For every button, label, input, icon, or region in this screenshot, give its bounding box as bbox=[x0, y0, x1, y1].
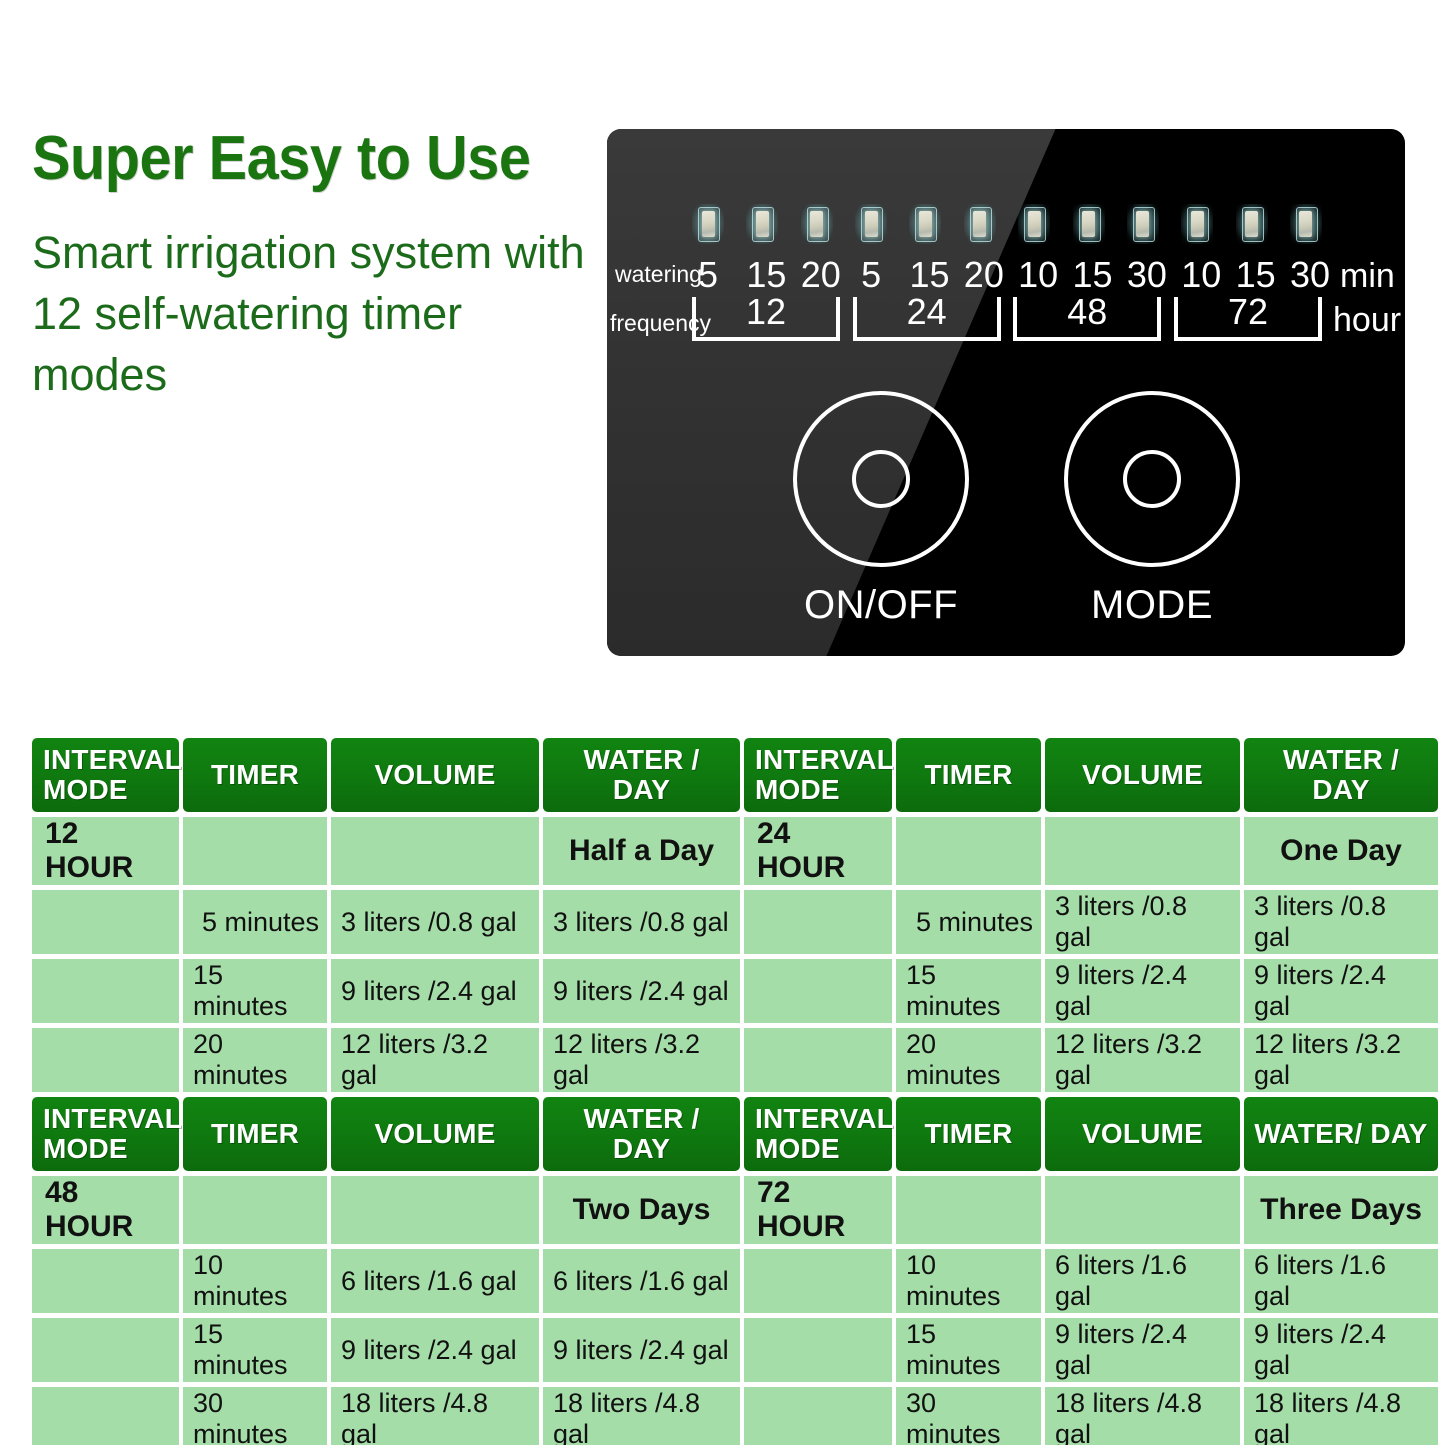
table-volume-value: 6 liters /1.6 gal bbox=[331, 1249, 539, 1313]
watering-spec-table: INTERVALMODETIMERVOLUMEWATER / DAYINTERV… bbox=[32, 738, 1410, 1445]
onoff-button-label: ON/OFF bbox=[793, 583, 969, 628]
watering-minute-value: 15 bbox=[1073, 257, 1105, 293]
table-header-timer: TIMER bbox=[183, 1097, 327, 1171]
table-volume-value: 9 liters /2.4 gal bbox=[1045, 1318, 1240, 1382]
frequency-row: frequency 12244872 hour bbox=[607, 297, 1405, 343]
table-header-timer: TIMER bbox=[896, 738, 1041, 812]
table-cell-empty bbox=[896, 1176, 1041, 1244]
mode-button-center-icon bbox=[1123, 450, 1181, 508]
table-volume-value: 6 liters /1.6 gal bbox=[1045, 1249, 1240, 1313]
table-cell-empty bbox=[1045, 1176, 1240, 1244]
table-cell-empty bbox=[744, 1249, 892, 1313]
onoff-button[interactable] bbox=[793, 391, 969, 567]
table-header-interval-mode: INTERVALMODE bbox=[744, 738, 892, 812]
led-indicator-icon bbox=[964, 204, 996, 244]
frequency-groups: 12244872 bbox=[692, 297, 1322, 343]
table-header-timer: TIMER bbox=[183, 738, 327, 812]
led-indicator-icon bbox=[1073, 204, 1105, 244]
watering-minute-value: 30 bbox=[1290, 257, 1322, 293]
frequency-value: 72 bbox=[1228, 294, 1268, 330]
table-water-day-value: 6 liters /1.6 gal bbox=[1244, 1249, 1438, 1313]
table-timer-value: 15 minutes bbox=[183, 959, 327, 1023]
led-indicator-icon bbox=[801, 204, 833, 244]
table-water-day-value: 12 liters /3.2 gal bbox=[543, 1028, 740, 1092]
mode-button-label: MODE bbox=[1064, 583, 1240, 628]
table-water-day-summary: Two Days bbox=[543, 1176, 740, 1244]
table-timer-value: 20 minutes bbox=[183, 1028, 327, 1092]
table-cell-empty bbox=[32, 890, 179, 954]
watering-minute-value: 5 bbox=[855, 257, 887, 293]
table-timer-value: 15 minutes bbox=[896, 959, 1041, 1023]
table-header-volume: VOLUME bbox=[331, 738, 539, 812]
mode-button[interactable] bbox=[1064, 391, 1240, 567]
table-timer-value: 15 minutes bbox=[896, 1318, 1041, 1382]
table-volume-value: 3 liters /0.8 gal bbox=[331, 890, 539, 954]
table-cell-empty bbox=[744, 1387, 892, 1445]
table-header-volume: VOLUME bbox=[1045, 1097, 1240, 1171]
watering-minute-value: 20 bbox=[801, 257, 833, 293]
table-volume-value: 18 liters /4.8 gal bbox=[1045, 1387, 1240, 1445]
page-title: Super Easy to Use bbox=[32, 126, 553, 192]
table-water-day-value: 18 liters /4.8 gal bbox=[1244, 1387, 1438, 1445]
frequency-bracket-group: 12 bbox=[692, 297, 840, 341]
led-indicator-icon bbox=[855, 204, 887, 244]
onoff-button-group[interactable]: ON/OFF bbox=[793, 391, 969, 628]
table-header-volume: VOLUME bbox=[1045, 738, 1240, 812]
table-volume-value: 9 liters /2.4 gal bbox=[331, 959, 539, 1023]
table-volume-value: 9 liters /2.4 gal bbox=[331, 1318, 539, 1382]
table-interval-mode-value: 24 HOUR bbox=[744, 817, 892, 885]
table-water-day-value: 3 liters /0.8 gal bbox=[543, 890, 740, 954]
frequency-value: 24 bbox=[907, 294, 947, 330]
watering-minute-values: 5152051520101530101530 bbox=[692, 255, 1322, 295]
watering-minute-value: 15 bbox=[909, 257, 941, 293]
watering-label: watering bbox=[615, 261, 702, 288]
table-timer-value: 10 minutes bbox=[896, 1249, 1041, 1313]
table-cell-empty bbox=[32, 1318, 179, 1382]
watering-minute-value: 15 bbox=[1236, 257, 1268, 293]
table-timer-value: 5 minutes bbox=[183, 890, 327, 954]
table-cell-empty bbox=[744, 959, 892, 1023]
table-cell-empty bbox=[1045, 817, 1240, 885]
table-water-day-summary: Half a Day bbox=[543, 817, 740, 885]
table-cell-empty bbox=[183, 817, 327, 885]
table-water-day-value: 9 liters /2.4 gal bbox=[1244, 959, 1438, 1023]
table-timer-value: 20 minutes bbox=[896, 1028, 1041, 1092]
table-cell-empty bbox=[331, 1176, 539, 1244]
table-timer-value: 15 minutes bbox=[183, 1318, 327, 1382]
table-water-day-value: 18 liters /4.8 gal bbox=[543, 1387, 740, 1445]
table-water-day-value: 3 liters /0.8 gal bbox=[1244, 890, 1438, 954]
table-volume-value: 12 liters /3.2 gal bbox=[1045, 1028, 1240, 1092]
led-indicator-icon bbox=[1181, 204, 1213, 244]
onoff-button-center-icon bbox=[852, 450, 910, 508]
table-water-day-value: 9 liters /2.4 gal bbox=[543, 959, 740, 1023]
table-cell-empty bbox=[331, 817, 539, 885]
table-volume-value: 3 liters /0.8 gal bbox=[1045, 890, 1240, 954]
table-header-volume: VOLUME bbox=[331, 1097, 539, 1171]
table-interval-mode-value: 48 HOUR bbox=[32, 1176, 179, 1244]
watering-minute-value: 5 bbox=[692, 257, 724, 293]
table-header-interval-mode: INTERVALMODE bbox=[32, 1097, 179, 1171]
table-volume-value: 9 liters /2.4 gal bbox=[1045, 959, 1240, 1023]
table-header-interval-mode: INTERVALMODE bbox=[744, 1097, 892, 1171]
table-timer-value: 30 minutes bbox=[183, 1387, 327, 1445]
table-cell-empty bbox=[744, 1028, 892, 1092]
table-header-water-day: WATER / DAY bbox=[543, 1097, 740, 1171]
frequency-value: 48 bbox=[1067, 294, 1107, 330]
watering-minute-value: 20 bbox=[964, 257, 996, 293]
table-cell-empty bbox=[32, 1249, 179, 1313]
unit-min-label: min bbox=[1340, 257, 1395, 296]
table-cell-empty bbox=[32, 959, 179, 1023]
table-cell-empty bbox=[744, 1318, 892, 1382]
led-indicator-icon bbox=[1127, 204, 1159, 244]
table-water-day-value: 9 liters /2.4 gal bbox=[543, 1318, 740, 1382]
product-feature-page: Super Easy to Use Smart irrigation syste… bbox=[0, 0, 1445, 1445]
table-header-water-day: WATER / DAY bbox=[1244, 738, 1438, 812]
mode-button-group[interactable]: MODE bbox=[1064, 391, 1240, 628]
table-cell-empty bbox=[744, 890, 892, 954]
frequency-bracket-group: 72 bbox=[1174, 297, 1322, 341]
marketing-copy: Super Easy to Use Smart irrigation syste… bbox=[32, 126, 592, 405]
table-interval-mode-value: 72 HOUR bbox=[744, 1176, 892, 1244]
page-subtitle: Smart irrigation system with 12 self-wat… bbox=[32, 222, 592, 405]
frequency-bracket-group: 48 bbox=[1013, 297, 1161, 341]
watering-row: watering 5152051520101530101530 min bbox=[607, 255, 1405, 295]
watering-minute-value: 30 bbox=[1127, 257, 1159, 293]
table-water-day-value: 9 liters /2.4 gal bbox=[1244, 1318, 1438, 1382]
unit-hour-label: hour bbox=[1333, 301, 1401, 340]
table-water-day-value: 6 liters /1.6 gal bbox=[543, 1249, 740, 1313]
watering-minute-value: 10 bbox=[1181, 257, 1213, 293]
table-timer-value: 5 minutes bbox=[896, 890, 1041, 954]
table-timer-value: 30 minutes bbox=[896, 1387, 1041, 1445]
led-indicator-icon bbox=[1290, 204, 1322, 244]
led-indicator-row bbox=[692, 204, 1322, 250]
table-timer-value: 10 minutes bbox=[183, 1249, 327, 1313]
led-indicator-icon bbox=[1236, 204, 1268, 244]
led-indicator-icon bbox=[692, 204, 724, 244]
table-header-interval-mode: INTERVALMODE bbox=[32, 738, 179, 812]
led-indicator-icon bbox=[909, 204, 941, 244]
table-cell-empty bbox=[32, 1028, 179, 1092]
frequency-bracket-group: 24 bbox=[853, 297, 1001, 341]
led-indicator-icon bbox=[1018, 204, 1050, 244]
table-header-water-day: WATER / DAY bbox=[543, 738, 740, 812]
watering-minute-value: 15 bbox=[746, 257, 778, 293]
table-volume-value: 12 liters /3.2 gal bbox=[331, 1028, 539, 1092]
table-water-day-summary: One Day bbox=[1244, 817, 1438, 885]
table-water-day-summary: Three Days bbox=[1244, 1176, 1438, 1244]
table-interval-mode-value: 12 HOUR bbox=[32, 817, 179, 885]
watering-minute-value: 10 bbox=[1018, 257, 1050, 293]
table-cell-empty bbox=[896, 817, 1041, 885]
table-volume-value: 18 liters /4.8 gal bbox=[331, 1387, 539, 1445]
table-water-day-value: 12 liters /3.2 gal bbox=[1244, 1028, 1438, 1092]
frequency-value: 12 bbox=[746, 294, 786, 330]
table-header-timer: TIMER bbox=[896, 1097, 1041, 1171]
panel-content: watering 5152051520101530101530 min freq… bbox=[607, 129, 1405, 656]
led-indicator-icon bbox=[746, 204, 778, 244]
table-header-water-day: WATER/ DAY bbox=[1244, 1097, 1438, 1171]
device-control-panel: watering 5152051520101530101530 min freq… bbox=[607, 129, 1405, 656]
table-cell-empty bbox=[32, 1387, 179, 1445]
table-cell-empty bbox=[183, 1176, 327, 1244]
